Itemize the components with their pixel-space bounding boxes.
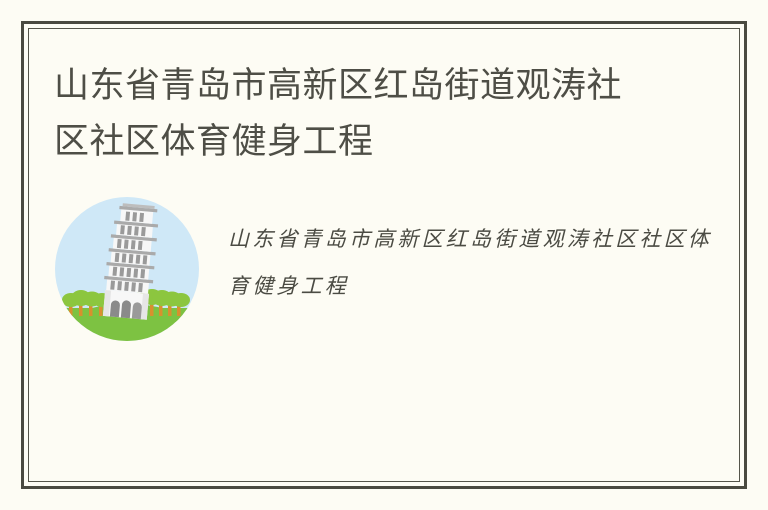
article-caption: 山东省青岛市高新区红岛街道观涛社区社区体育健身工程 — [228, 196, 714, 310]
page-title: 山东省青岛市高新区红岛街道观涛社区社区体育健身工程 — [54, 58, 654, 170]
tower-tier-1-belfry — [118, 203, 157, 224]
leaning-tower-of-pisa-icon — [54, 196, 200, 342]
card-content: 山东省青岛市高新区红岛街道观涛社区社区体育健身工程 — [28, 28, 740, 482]
leaning-tower-of-pisa-svg — [54, 196, 200, 342]
article-body: 山东省青岛市高新区红岛街道观涛社区社区体育健身工程 — [54, 196, 714, 342]
